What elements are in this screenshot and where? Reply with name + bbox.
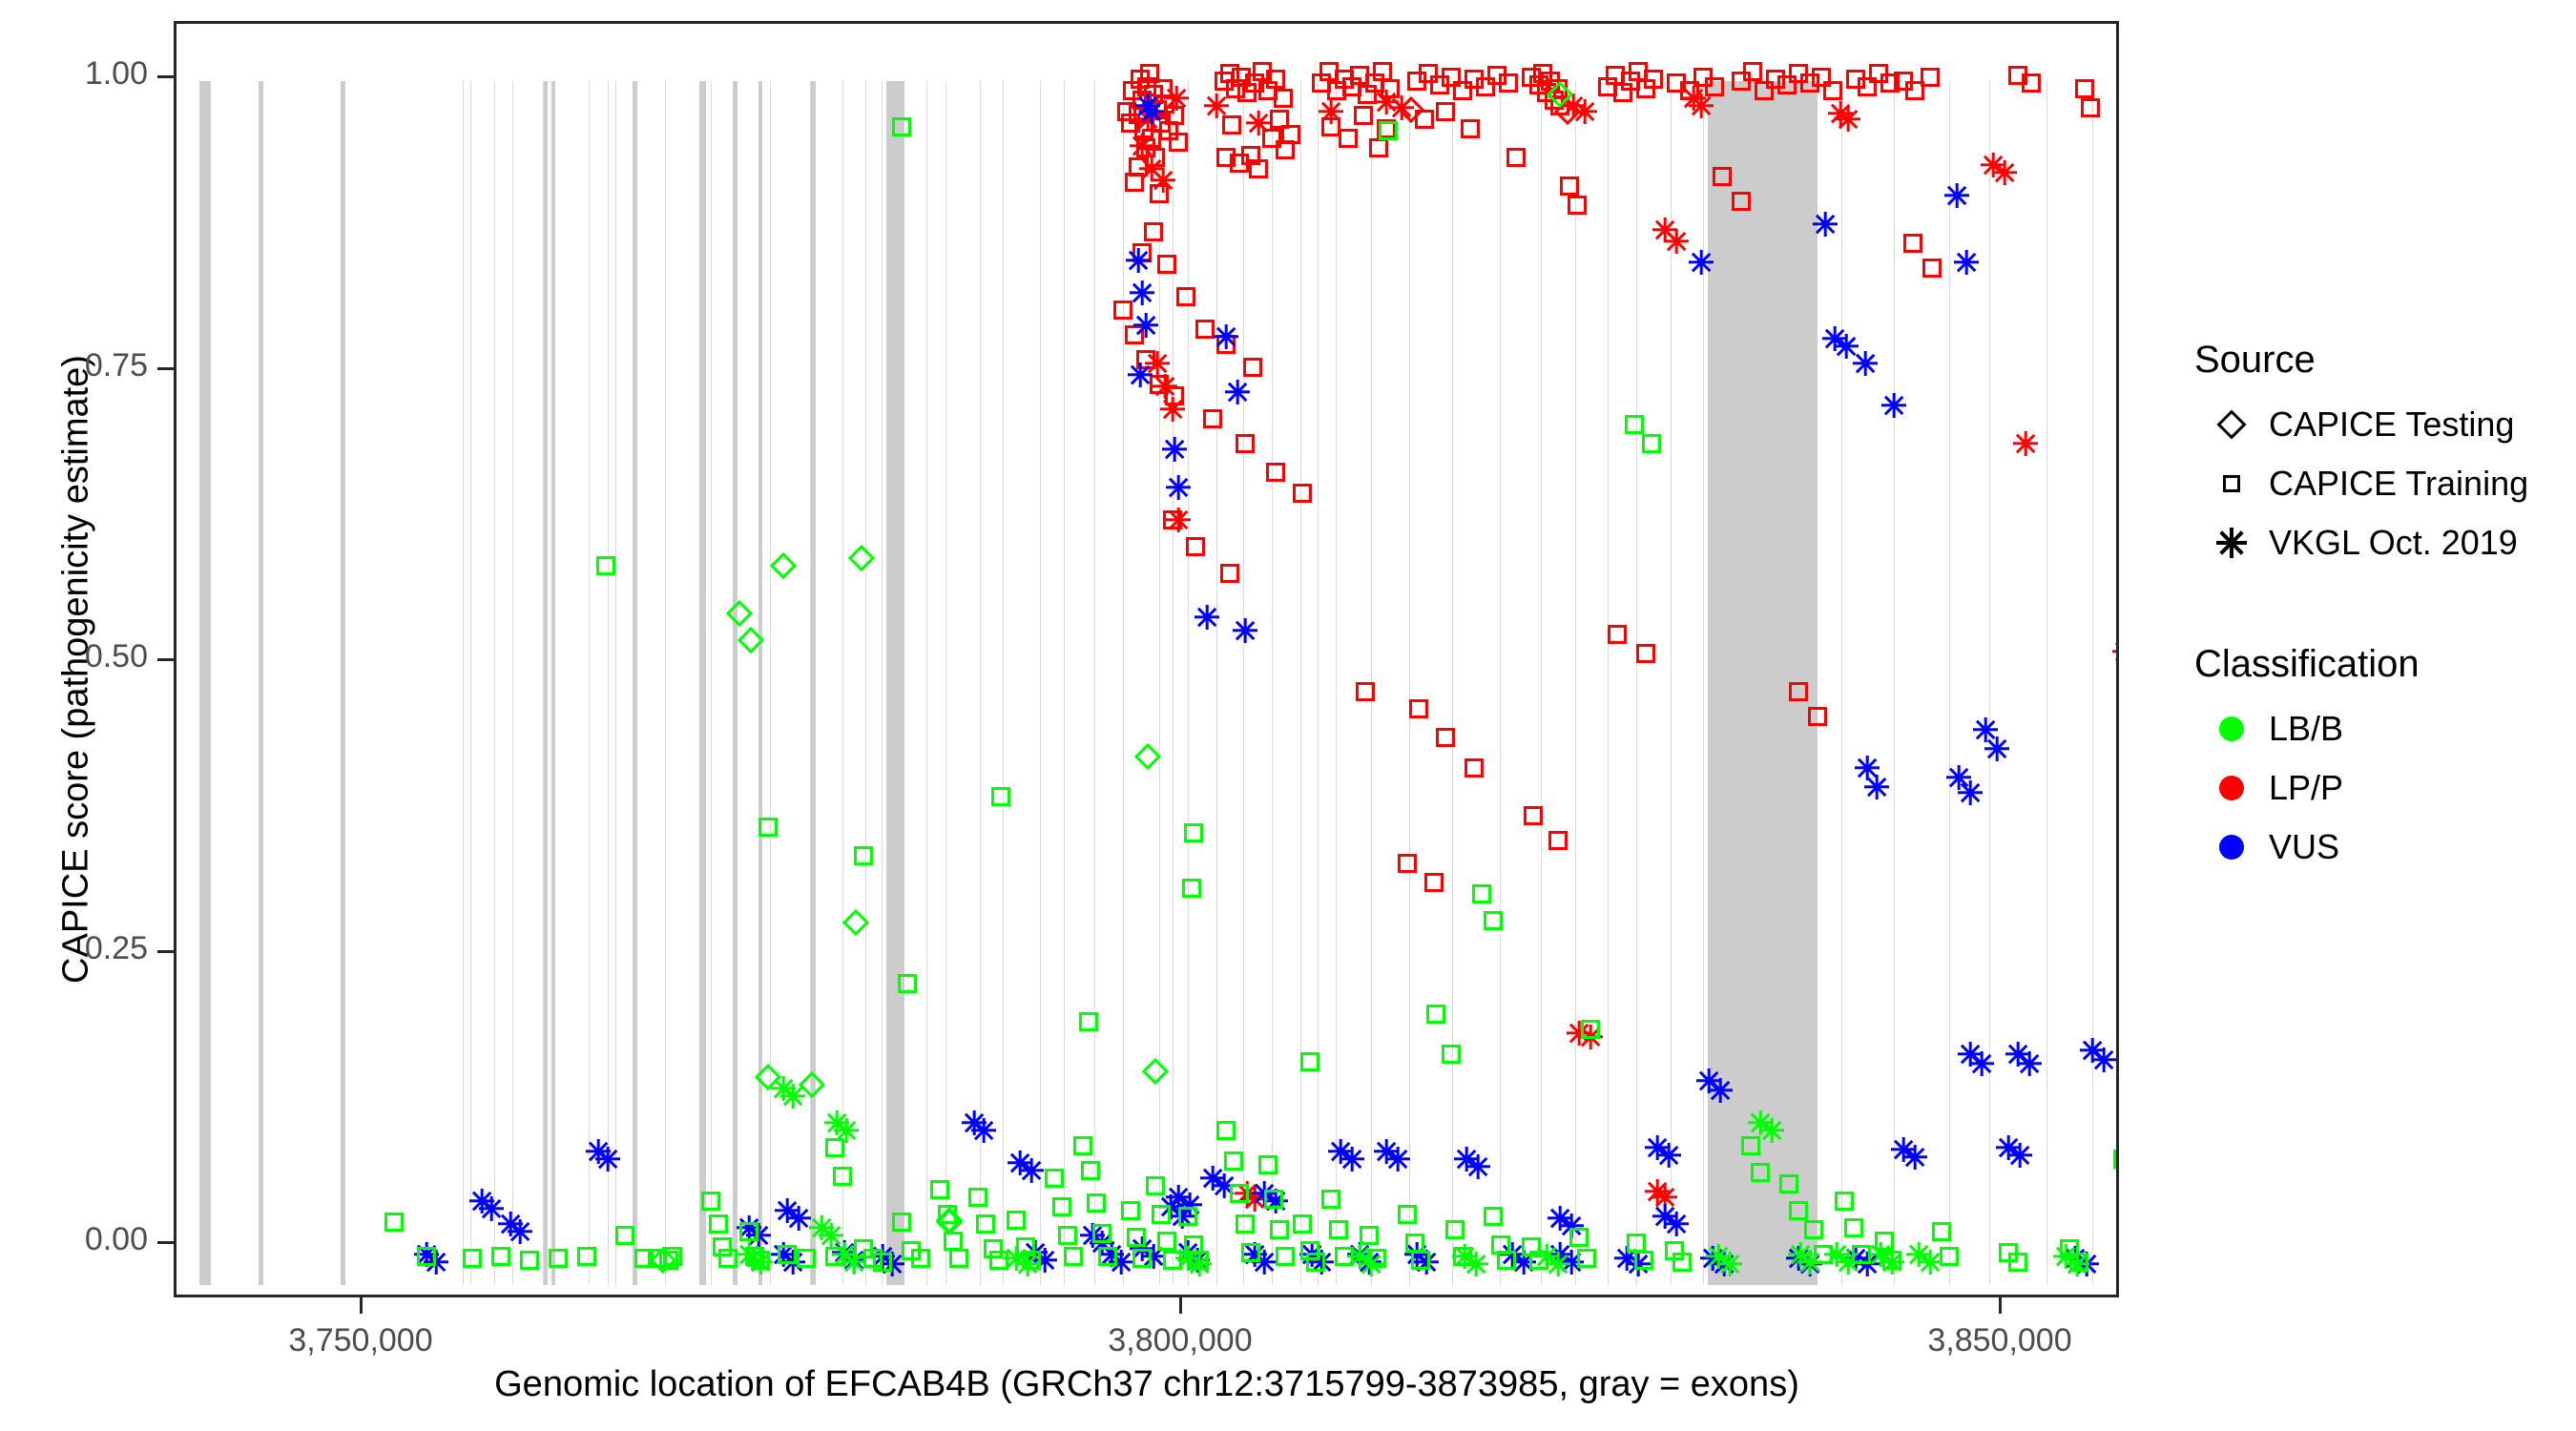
data-point-lp-p bbox=[1506, 148, 1526, 167]
data-point-lb-b bbox=[1484, 911, 1503, 930]
legend-item-source[interactable]: VKGL Oct. 2019 bbox=[2194, 513, 2566, 572]
data-point-lb-b bbox=[1007, 1211, 1026, 1230]
green-dot-icon bbox=[2194, 699, 2269, 758]
data-point-lb-b bbox=[1157, 1232, 1176, 1251]
legend-item-source[interactable]: CAPICE Testing bbox=[2194, 395, 2566, 454]
data-point-lp-p bbox=[1266, 70, 1285, 89]
y-axis-tick bbox=[157, 1241, 174, 1244]
data-point-lb-b bbox=[758, 818, 778, 837]
data-point-lp-p bbox=[1144, 222, 1163, 241]
data-point-lp-p bbox=[1524, 806, 1543, 825]
data-point-lp-p bbox=[1823, 81, 1842, 100]
data-point-lb-b bbox=[2008, 1253, 2027, 1272]
data-point-lb-b bbox=[739, 1222, 758, 1241]
data-point-lb-b bbox=[949, 1249, 968, 1268]
intron-gridline bbox=[615, 81, 616, 1285]
square-icon bbox=[2194, 454, 2269, 513]
data-point-lb-b bbox=[1472, 884, 1491, 903]
data-point-lb-b bbox=[726, 600, 753, 627]
data-point-lb-b bbox=[944, 1232, 963, 1251]
data-point-lb-b bbox=[976, 1214, 995, 1234]
y-axis-tick-label: 0.00 bbox=[0, 1221, 148, 1258]
intron-gridline bbox=[2046, 81, 2047, 1285]
data-point-lb-b bbox=[1079, 1012, 1098, 1031]
data-point-lb-b bbox=[989, 1251, 1008, 1270]
data-point-lb-b bbox=[1184, 823, 1203, 842]
data-point-lb-b bbox=[1087, 1193, 1106, 1213]
data-point-lp-p bbox=[1203, 409, 1222, 428]
data-point-lb-b bbox=[1940, 1247, 1959, 1266]
legend-item-classification[interactable]: VUS bbox=[2194, 818, 2566, 877]
data-point-lp-p bbox=[1169, 133, 1188, 152]
intron-gridline bbox=[1272, 81, 1273, 1285]
data-point-lb-b bbox=[968, 1188, 987, 1207]
exon-band bbox=[758, 81, 762, 1285]
legend-classification-rows: LB/BLP/PVUS bbox=[2194, 699, 2566, 877]
legend-item-source[interactable]: CAPICE Training bbox=[2194, 454, 2566, 513]
data-point-lb-b bbox=[1142, 1058, 1169, 1085]
data-point-lb-b bbox=[417, 1247, 436, 1266]
intron-gridline bbox=[1949, 81, 1950, 1285]
data-point-lb-b bbox=[797, 1249, 816, 1268]
data-point-lb-b bbox=[1577, 1249, 1596, 1268]
data-point-lb-b bbox=[1293, 1214, 1312, 1234]
legend-item-label: LB/B bbox=[2269, 709, 2343, 749]
intron-gridline bbox=[842, 81, 843, 1285]
data-point-lb-b bbox=[1329, 1220, 1348, 1239]
data-point-lb-b bbox=[1442, 1045, 1461, 1064]
legend-item-label: VUS bbox=[2269, 827, 2339, 867]
data-point-lb-b bbox=[1052, 1197, 1071, 1216]
intron-gridline bbox=[1188, 81, 1189, 1285]
data-point-lb-b bbox=[991, 787, 1010, 806]
data-point-lb-b bbox=[1306, 1253, 1325, 1272]
data-point-lb-b bbox=[1642, 434, 1661, 453]
asterisk-icon bbox=[2194, 513, 2269, 572]
data-point-lb-b bbox=[1569, 1228, 1589, 1247]
x-axis-title: Genomic location of EFCAB4B (GRCh37 chr1… bbox=[174, 1364, 2120, 1405]
data-point-lp-p bbox=[1424, 873, 1444, 892]
data-point-lb-b bbox=[1398, 1205, 1417, 1224]
intron-gridline bbox=[1064, 81, 1065, 1285]
y-axis-tick bbox=[157, 658, 174, 661]
data-point-lp-p bbox=[1293, 484, 1312, 503]
exon-band bbox=[733, 81, 737, 1285]
data-point-lp-p bbox=[1921, 68, 1940, 87]
exon-band bbox=[551, 81, 555, 1285]
exon-band bbox=[886, 81, 904, 1285]
data-point-lp-p bbox=[1220, 564, 1239, 583]
x-axis-tick bbox=[1999, 1297, 2002, 1314]
intron-gridline bbox=[589, 81, 590, 1285]
data-point-lb-b bbox=[1300, 1052, 1319, 1071]
data-point-lb-b bbox=[898, 974, 917, 993]
legend-item-label: CAPICE Training bbox=[2269, 464, 2528, 504]
data-point-lp-p bbox=[1743, 62, 1762, 81]
data-point-lb-b bbox=[1092, 1224, 1111, 1243]
data-point-lp-p bbox=[1398, 854, 1417, 873]
legend-classification-title: Classification bbox=[2194, 643, 2566, 686]
data-point-lb-b bbox=[1121, 1201, 1140, 1220]
data-point-lp-p bbox=[1176, 287, 1195, 306]
legend-item-label: LP/P bbox=[2269, 768, 2343, 808]
exon-band bbox=[633, 81, 637, 1285]
data-point-lp-p bbox=[1117, 102, 1136, 121]
intron-gridline bbox=[1989, 81, 1990, 1285]
intron-gridline bbox=[2092, 81, 2093, 1285]
intron-gridline bbox=[1123, 81, 1124, 1285]
data-point-lb-b bbox=[1321, 1190, 1340, 1209]
data-point-lb-b bbox=[1379, 121, 1398, 140]
intron-gridline bbox=[865, 81, 866, 1285]
intron-gridline bbox=[1409, 81, 1410, 1285]
x-axis-tick-label: 3,800,000 bbox=[1037, 1322, 1323, 1359]
diamond-icon bbox=[2194, 395, 2269, 454]
data-point-lb-b bbox=[1258, 1155, 1278, 1174]
data-point-lb-b bbox=[1741, 1136, 1760, 1155]
data-point-lb-b bbox=[825, 1138, 844, 1157]
data-point-lp-p bbox=[1560, 176, 1579, 196]
red-dot-icon bbox=[2194, 758, 2269, 818]
data-point-lb-b bbox=[1058, 1226, 1077, 1245]
data-point-lp-p bbox=[1157, 255, 1176, 274]
intron-gridline bbox=[1336, 81, 1337, 1285]
data-point-lp-p bbox=[1461, 119, 1480, 138]
exon-band bbox=[199, 81, 211, 1285]
blue-dot-icon bbox=[2194, 818, 2269, 877]
data-point-lp-p bbox=[1339, 129, 1358, 148]
data-point-lb-b bbox=[718, 1249, 737, 1268]
data-point-lb-b bbox=[1045, 1169, 1064, 1188]
intron-gridline bbox=[945, 81, 946, 1285]
data-point-lb-b bbox=[1224, 1151, 1243, 1171]
data-point-lp-p bbox=[1436, 102, 1455, 121]
data-point-lb-b bbox=[1152, 1205, 1171, 1224]
data-point-lb-b bbox=[491, 1247, 510, 1266]
data-point-lp-p bbox=[1373, 62, 1392, 81]
data-point-lb-b bbox=[1581, 1020, 1600, 1039]
legend-item-classification[interactable]: LB/B bbox=[2194, 699, 2566, 758]
intron-gridline bbox=[470, 81, 471, 1285]
intron-gridline bbox=[1894, 81, 1895, 1285]
data-point-lb-b bbox=[463, 1249, 482, 1268]
data-point-lb-b bbox=[520, 1251, 539, 1270]
data-point-lb-b bbox=[1178, 1207, 1197, 1226]
data-point-lp-p bbox=[1266, 463, 1285, 482]
data-point-lp-p bbox=[2022, 73, 2041, 93]
data-point-lb-b bbox=[848, 545, 875, 571]
data-point-lp-p bbox=[2075, 79, 2094, 98]
data-point-lb-b bbox=[778, 1245, 797, 1264]
intron-gridline bbox=[512, 81, 513, 1285]
intron-gridline bbox=[1541, 81, 1542, 1285]
data-point-lb-b bbox=[833, 1167, 852, 1186]
data-point-lb-b bbox=[1134, 743, 1161, 770]
data-point-lp-p bbox=[1789, 682, 1808, 701]
y-axis-tick-label: 0.50 bbox=[0, 638, 148, 675]
data-point-lb-b bbox=[892, 1213, 911, 1232]
data-point-lb-b bbox=[1844, 1218, 1863, 1237]
x-axis-tick bbox=[360, 1297, 363, 1314]
data-point-lb-b bbox=[1835, 1192, 1854, 1211]
data-point-lp-p bbox=[1195, 320, 1215, 339]
data-point-lb-b bbox=[873, 1253, 892, 1272]
chart-root: CAPICE score (pathogenicity estimate) Ge… bbox=[0, 0, 2576, 1431]
data-point-lb-b bbox=[1241, 1243, 1260, 1262]
data-point-lp-p bbox=[1236, 434, 1255, 453]
intron-gridline bbox=[1243, 81, 1244, 1285]
data-point-lb-b bbox=[1073, 1136, 1092, 1155]
legend-source-title: Source bbox=[2194, 339, 2566, 382]
y-axis-tick bbox=[157, 950, 174, 953]
data-point-lp-p bbox=[1608, 625, 1627, 644]
data-point-lp-p bbox=[1243, 358, 1262, 377]
data-point-lb-b bbox=[1132, 1249, 1152, 1268]
data-point-lb-b bbox=[1789, 1201, 1808, 1220]
intron-gridline bbox=[1500, 81, 1501, 1285]
data-point-lb-b bbox=[384, 1213, 404, 1232]
data-point-lb-b bbox=[1360, 1226, 1379, 1245]
data-point-lp-p bbox=[1808, 707, 1827, 726]
data-point-lb-b bbox=[1426, 1005, 1445, 1024]
data-point-lp-p bbox=[1713, 167, 1732, 186]
data-point-lb-b bbox=[770, 552, 797, 579]
x-axis-tick-label: 3,750,000 bbox=[218, 1322, 504, 1359]
data-point-lb-b bbox=[1625, 415, 1644, 434]
intron-gridline bbox=[1216, 81, 1217, 1285]
data-point-lb-b bbox=[911, 1249, 930, 1268]
legend-item-label: CAPICE Testing bbox=[2269, 404, 2514, 445]
data-point-lp-p bbox=[2081, 98, 2100, 117]
intron-gridline bbox=[1300, 81, 1301, 1285]
data-point-lb-b bbox=[854, 846, 873, 865]
data-point-lp-p bbox=[1732, 192, 1751, 211]
data-point-lb-b bbox=[1146, 1176, 1165, 1195]
y-axis-tick-label: 1.00 bbox=[0, 55, 148, 93]
intron-gridline bbox=[1671, 81, 1672, 1285]
data-point-lb-b bbox=[549, 1249, 568, 1268]
data-point-lp-p bbox=[1281, 125, 1300, 144]
intron-gridline bbox=[711, 81, 712, 1285]
data-point-lp-p bbox=[1354, 106, 1373, 125]
data-point-lb-b bbox=[1216, 1121, 1236, 1140]
y-axis-tick-label: 0.25 bbox=[0, 930, 148, 967]
data-point-lb-b bbox=[1264, 1190, 1283, 1209]
data-point-lp-p bbox=[1568, 196, 1587, 215]
intron-gridline bbox=[882, 81, 883, 1285]
data-point-lp-p bbox=[1222, 115, 1241, 135]
data-point-lb-b bbox=[1230, 1184, 1249, 1203]
intron-gridline bbox=[1575, 81, 1576, 1285]
data-point-lb-b bbox=[1627, 1234, 1646, 1253]
data-point-lb-b bbox=[615, 1226, 634, 1245]
data-point-lp-p bbox=[1644, 70, 1663, 89]
legend: Source CAPICE TestingCAPICE TrainingVKGL… bbox=[2194, 339, 2566, 877]
data-point-lp-p bbox=[1636, 644, 1655, 663]
exon-band bbox=[259, 81, 263, 1285]
intron-gridline bbox=[608, 81, 609, 1285]
data-point-lb-b bbox=[1932, 1222, 1951, 1241]
data-point-lb-b bbox=[1411, 1251, 1430, 1270]
data-point-lb-b bbox=[1484, 1207, 1503, 1226]
legend-item-label: VKGL Oct. 2019 bbox=[2269, 523, 2518, 563]
data-point-lp-p bbox=[1274, 89, 1293, 108]
data-point-lb-b bbox=[1182, 879, 1201, 898]
data-point-lb-b bbox=[1445, 1220, 1465, 1239]
x-axis-tick-label: 3,850,000 bbox=[1857, 1322, 2143, 1359]
data-point-lb-b bbox=[1236, 1214, 1255, 1234]
data-point-lb-b bbox=[1127, 1228, 1146, 1247]
legend-source-rows: CAPICE TestingCAPICE TrainingVKGL Oct. 2… bbox=[2194, 395, 2566, 572]
data-point-lb-b bbox=[892, 117, 911, 136]
data-point-lb-b bbox=[1276, 1247, 1295, 1266]
intron-gridline bbox=[494, 81, 495, 1285]
legend-item-classification[interactable]: LP/P bbox=[2194, 758, 2566, 818]
intron-gridline bbox=[1094, 81, 1095, 1285]
data-point-lp-p bbox=[1113, 301, 1132, 320]
plot-area bbox=[177, 24, 2116, 1295]
data-point-lp-p bbox=[1249, 159, 1268, 178]
intron-gridline bbox=[463, 81, 464, 1285]
data-point-lp-p bbox=[1356, 682, 1375, 701]
x-axis-tick bbox=[1179, 1297, 1182, 1314]
intron-gridline bbox=[926, 81, 927, 1285]
data-point-lp-p bbox=[1409, 699, 1428, 718]
data-point-lb-b bbox=[1405, 1234, 1424, 1253]
intron-gridline bbox=[1608, 81, 1609, 1285]
exon-band bbox=[699, 81, 706, 1285]
data-point-lb-b bbox=[1634, 1251, 1653, 1270]
data-point-lb-b bbox=[1804, 1220, 1823, 1239]
data-point-lp-p bbox=[1548, 831, 1568, 850]
intron-gridline bbox=[1841, 81, 1842, 1285]
data-point-lb-b bbox=[2113, 1150, 2116, 1169]
intron-gridline bbox=[980, 81, 981, 1285]
data-point-lp-p bbox=[1465, 758, 1484, 778]
data-point-lb-b bbox=[577, 1247, 596, 1266]
data-point-lp-p bbox=[1499, 73, 1518, 93]
data-point-lb-b bbox=[1779, 1174, 1798, 1193]
data-point-lb-b bbox=[1672, 1253, 1692, 1272]
data-point-lb-b bbox=[596, 556, 615, 575]
intron-gridline bbox=[770, 81, 771, 1285]
data-point-lb-b bbox=[1064, 1247, 1083, 1266]
intron-gridline bbox=[1040, 81, 1041, 1285]
exon-band bbox=[811, 81, 816, 1285]
data-point-lp-p bbox=[1705, 77, 1724, 96]
y-axis-tick bbox=[157, 75, 174, 78]
data-point-lp-p bbox=[1436, 728, 1455, 747]
exon-band bbox=[341, 81, 345, 1285]
data-point-lp-p bbox=[1922, 259, 1942, 278]
intron-gridline bbox=[1003, 81, 1004, 1285]
plot-panel bbox=[174, 21, 2119, 1297]
data-point-lb-b bbox=[930, 1180, 949, 1199]
data-point-lb-b bbox=[1751, 1163, 1770, 1182]
data-point-lb-b bbox=[1270, 1220, 1289, 1239]
y-axis-tick-label: 0.75 bbox=[0, 347, 148, 384]
legend-spacer bbox=[2194, 572, 2566, 643]
data-point-lb-b bbox=[709, 1214, 728, 1234]
exon-band bbox=[544, 81, 548, 1285]
data-point-lp-p bbox=[1369, 138, 1388, 157]
data-point-lb-b bbox=[701, 1192, 720, 1211]
intron-gridline bbox=[1318, 81, 1319, 1285]
data-point-lp-p bbox=[1186, 537, 1205, 556]
data-point-lb-b bbox=[1497, 1251, 1516, 1270]
data-point-lb-b bbox=[1081, 1161, 1100, 1180]
y-axis-tick bbox=[157, 367, 174, 370]
data-point-lp-p bbox=[1903, 234, 1922, 253]
data-point-lb-b bbox=[1098, 1247, 1117, 1266]
intron-gridline bbox=[1452, 81, 1453, 1285]
intron-gridline bbox=[1636, 81, 1637, 1285]
intron-gridline bbox=[665, 81, 666, 1285]
